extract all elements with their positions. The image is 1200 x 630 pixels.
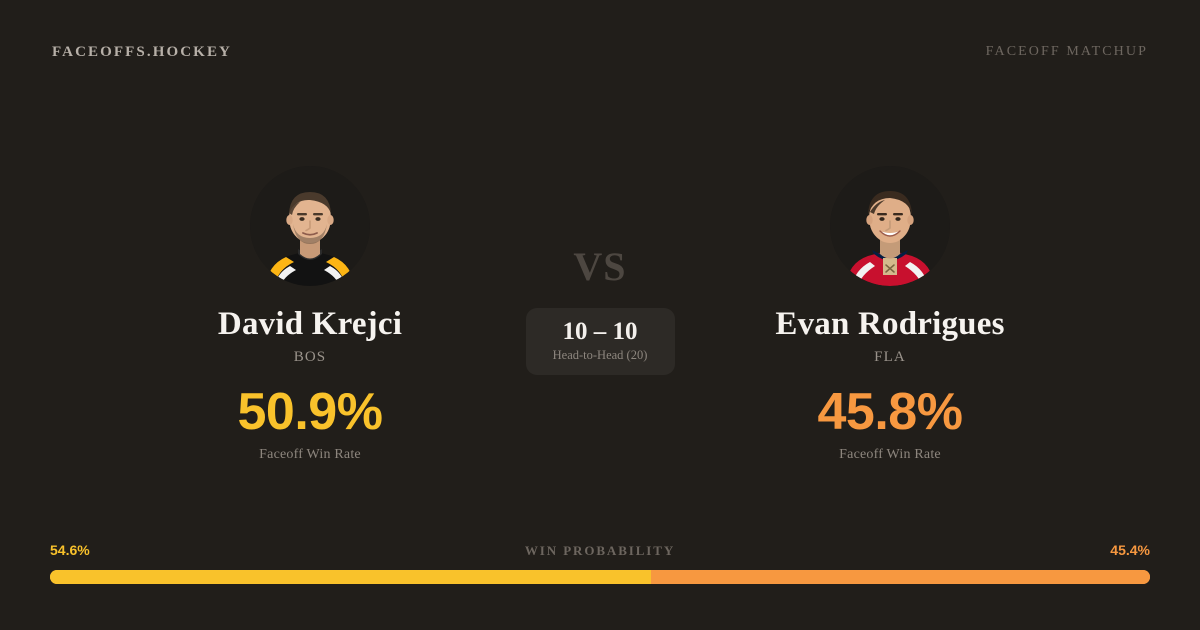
player-faceoff-win-rate-right: 45.8% — [818, 386, 963, 438]
player-name-right: Evan Rodrigues — [775, 306, 1004, 343]
player-team-right: FLA — [874, 349, 906, 366]
win-probability-labels: 54.6% WIN PROBABILITY 45.4% — [50, 542, 1150, 559]
player-faceoff-win-rate-label-right: Faceoff Win Rate — [839, 447, 941, 463]
head-to-head-card: 10 – 10 Head-to-Head (20) — [526, 308, 675, 375]
player-faceoff-win-rate-label-left: Faceoff Win Rate — [259, 447, 361, 463]
player-headshot-icon-right — [830, 166, 950, 286]
site-brand[interactable]: FACEOFFS.HOCKEY — [52, 44, 232, 61]
header-tagline: FACEOFF MATCHUP — [986, 44, 1148, 60]
player-name-left: David Krejci — [218, 306, 402, 343]
page-header: FACEOFFS.HOCKEY FACEOFF MATCHUP — [0, 0, 1200, 104]
win-probability-bar-fill-left — [50, 570, 651, 584]
player-faceoff-win-rate-left: 50.9% — [238, 386, 383, 438]
matchup-section: David Krejci BOS 50.9% Faceoff Win Rate … — [0, 104, 1200, 510]
head-to-head-label: Head-to-Head (20) — [553, 348, 648, 363]
versus-block: VS 10 – 10 Head-to-Head (20) — [520, 104, 680, 375]
avatar-right — [830, 166, 950, 286]
avatar-left — [250, 166, 370, 286]
win-probability-section: 54.6% WIN PROBABILITY 45.4% — [50, 542, 1150, 584]
win-probability-title: WIN PROBABILITY — [525, 543, 675, 559]
win-probability-value-left: 54.6% — [50, 542, 90, 558]
head-to-head-score: 10 – 10 — [563, 319, 638, 345]
win-probability-bar-fill-right — [651, 570, 1150, 584]
player-card-right[interactable]: Evan Rodrigues FLA 45.8% Faceoff Win Rat… — [680, 104, 1100, 463]
player-card-left[interactable]: David Krejci BOS 50.9% Faceoff Win Rate — [100, 104, 520, 463]
versus-label: VS — [573, 247, 626, 287]
player-team-left: BOS — [294, 349, 326, 366]
win-probability-bar[interactable] — [50, 570, 1150, 584]
player-headshot-icon-left — [250, 166, 370, 286]
win-probability-value-right: 45.4% — [1110, 542, 1150, 558]
